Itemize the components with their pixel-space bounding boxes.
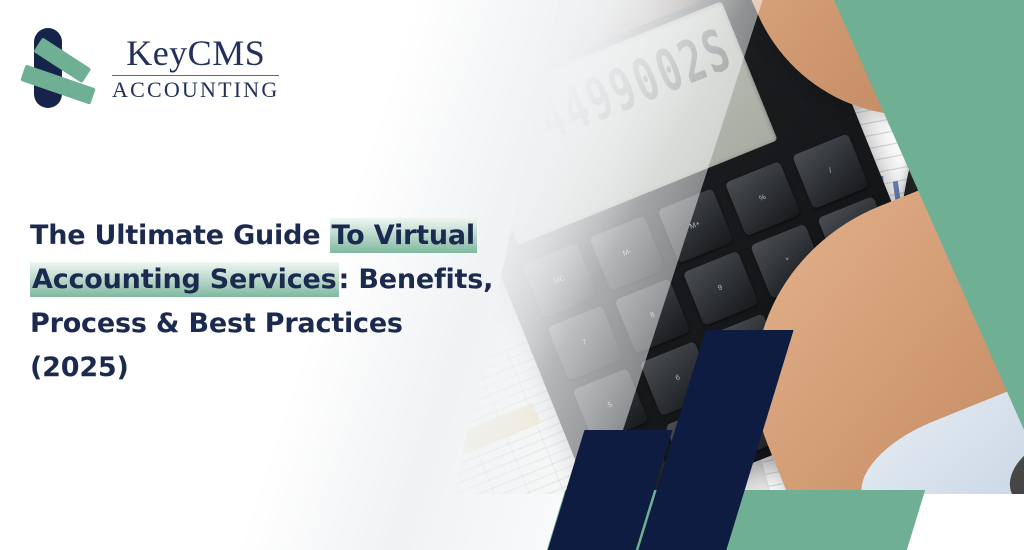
brand-name: KeyCMS <box>112 35 279 72</box>
calculator-key: 7 <box>547 306 623 381</box>
brand-wordmark: KeyCMS ACCOUNTING <box>112 35 279 101</box>
calculator-key: M+ <box>657 188 733 263</box>
calculator-key: 8 <box>615 278 691 353</box>
brand-logo[interactable]: KeyCMS ACCOUNTING <box>20 26 279 110</box>
hero-banner: CALC 4499002S MC M- M+ % / 7 8 9 * 4 5 6 <box>0 0 1024 550</box>
headline-line1-highlight: To Virtual <box>330 218 477 253</box>
calculator-key: MC <box>522 243 598 318</box>
calculator-key: M- <box>589 216 665 291</box>
headline-line1-plain: The Ultimate Guide <box>30 220 330 251</box>
calculator-key: / <box>792 134 868 209</box>
calculator-key: 9 <box>682 251 758 326</box>
calculator-key: % <box>725 161 801 236</box>
brand-subtitle: ACCOUNTING <box>112 78 279 101</box>
headline-line3: Process & Best Practices (2025) <box>30 308 403 383</box>
keycms-k-monogram-icon <box>20 26 98 110</box>
page-title: The Ultimate Guide To VirtualAccounting … <box>30 214 500 390</box>
brand-divider <box>112 75 279 76</box>
headline-line2-highlight: Accounting Services <box>30 262 339 297</box>
headline-line2-plain: : Benefits, <box>339 264 494 295</box>
calculator-display-value: 4499002S <box>530 16 741 154</box>
